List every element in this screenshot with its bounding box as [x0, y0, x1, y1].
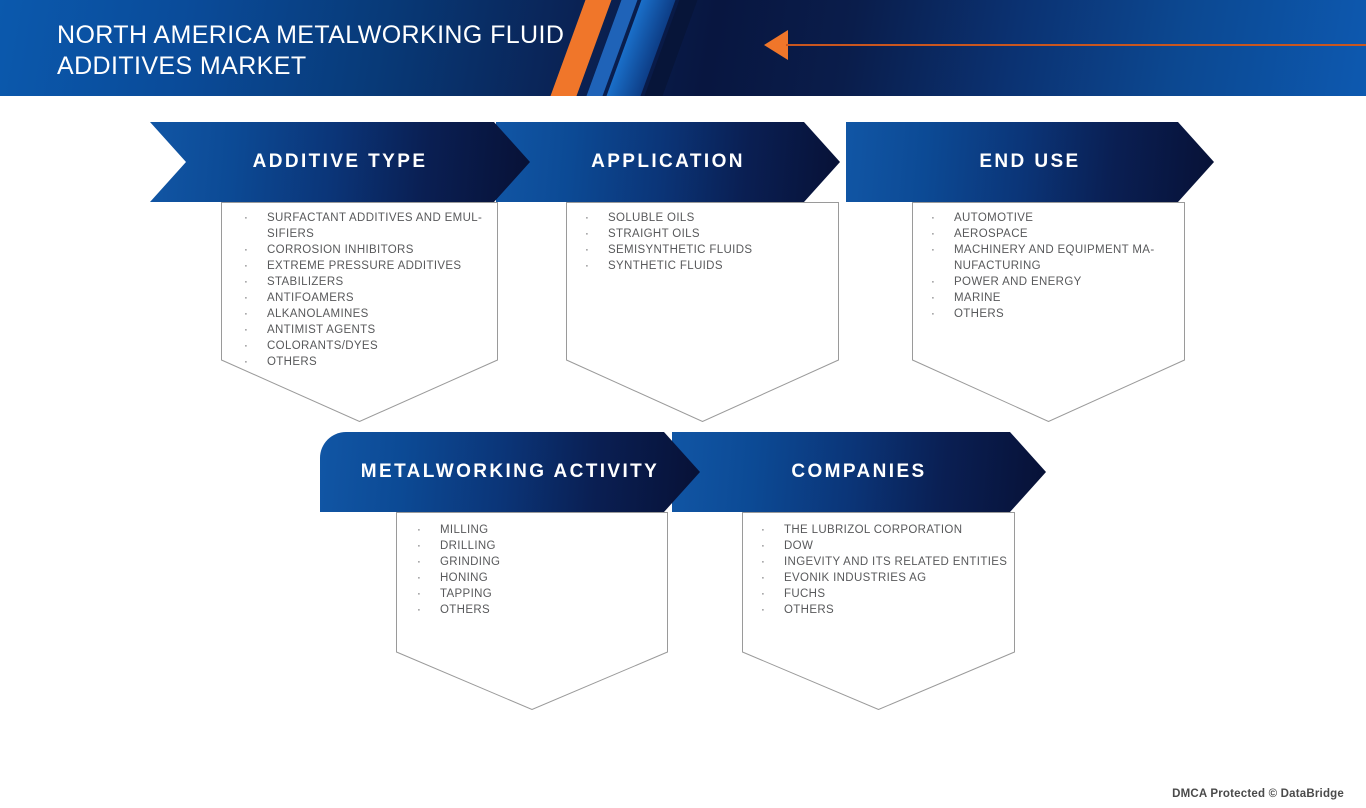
- list-item-label: ALKANOLAMINES: [267, 308, 369, 320]
- banner-end-use[interactable]: END USE: [846, 122, 1214, 202]
- banner-additive-type[interactable]: ADDITIVE TYPE: [150, 122, 530, 202]
- list-item: ·AEROSPACE: [924, 226, 1185, 242]
- list-item: ·ANTIMIST AGENTS: [237, 322, 498, 338]
- bullet-icon: ·: [244, 274, 248, 290]
- list-item: ·DOW: [754, 538, 1015, 554]
- list-item: ·MILLING: [410, 522, 668, 538]
- list-item: ·ALKANOLAMINES: [237, 306, 498, 322]
- list-item: ·MACHINERY AND EQUIPMENT MA- NUFACTURING: [924, 242, 1185, 274]
- list-item: ·GRINDING: [410, 554, 668, 570]
- list-item: ·SURFACTANT ADDITIVES AND EMUL- SIFIERS: [237, 210, 498, 242]
- bullet-icon: ·: [585, 242, 589, 258]
- bullet-icon: ·: [244, 322, 248, 338]
- bullet-icon: ·: [417, 538, 421, 554]
- list-item-label: SURFACTANT ADDITIVES AND EMUL- SIFIERS: [267, 212, 482, 240]
- list-item-label: AEROSPACE: [954, 228, 1028, 240]
- bullet-icon: ·: [931, 242, 935, 258]
- card-application: ·SOLUBLE OILS ·STRAIGHT OILS ·SEMISYNTHE…: [566, 202, 839, 422]
- list-additive-type: ·SURFACTANT ADDITIVES AND EMUL- SIFIERS …: [221, 202, 498, 370]
- list-item-label: EXTREME PRESSURE ADDITIVES: [267, 260, 461, 272]
- bullet-icon: ·: [761, 522, 765, 538]
- footer-credit: DMCA Protected © DataBridge: [1172, 788, 1344, 800]
- bullet-icon: ·: [244, 354, 248, 370]
- card-end-use: ·AUTOMOTIVE ·AEROSPACE ·MACHINERY AND EQ…: [912, 202, 1185, 422]
- bullet-icon: ·: [761, 586, 765, 602]
- bullet-icon: ·: [417, 586, 421, 602]
- list-item: ·AUTOMOTIVE: [924, 210, 1185, 226]
- list-item: ·OTHERS: [237, 354, 498, 370]
- list-item-label: SEMISYNTHETIC FLUIDS: [608, 244, 752, 256]
- banner-label-metalworking-activity: METALWORKING ACTIVITY: [361, 461, 659, 483]
- banner-application[interactable]: APPLICATION: [496, 122, 840, 202]
- list-item: ·MARINE: [924, 290, 1185, 306]
- list-item: ·DRILLING: [410, 538, 668, 554]
- list-item: ·COLORANTS/DYES: [237, 338, 498, 354]
- list-item: ·STABILIZERS: [237, 274, 498, 290]
- header-bar: NORTH AMERICA METALWORKING FLUID ADDITIV…: [0, 0, 1366, 96]
- list-item-label: POWER AND ENERGY: [954, 276, 1082, 288]
- bullet-icon: ·: [417, 602, 421, 618]
- list-application: ·SOLUBLE OILS ·STRAIGHT OILS ·SEMISYNTHE…: [566, 202, 839, 274]
- bullet-icon: ·: [585, 210, 589, 226]
- list-item-label: THE LUBRIZOL CORPORATION: [784, 524, 962, 536]
- banner-metalworking-activity[interactable]: METALWORKING ACTIVITY: [320, 432, 700, 512]
- page-title: NORTH AMERICA METALWORKING FLUID ADDITIV…: [57, 20, 697, 82]
- list-item: ·FUCHS: [754, 586, 1015, 602]
- list-item-label: SOLUBLE OILS: [608, 212, 695, 224]
- list-item: ·STRAIGHT OILS: [578, 226, 839, 242]
- list-item: ·OTHERS: [924, 306, 1185, 322]
- list-companies: ·THE LUBRIZOL CORPORATION ·DOW ·INGEVITY…: [742, 512, 1015, 618]
- banner-label-additive-type: ADDITIVE TYPE: [253, 151, 428, 173]
- bullet-icon: ·: [417, 570, 421, 586]
- list-item-label: OTHERS: [954, 308, 1004, 320]
- list-item: ·SYNTHETIC FLUIDS: [578, 258, 839, 274]
- list-item: ·HONING: [410, 570, 668, 586]
- card-metalworking-activity: ·MILLING ·DRILLING ·GRINDING ·HONING ·TA…: [396, 512, 668, 710]
- bullet-icon: ·: [931, 226, 935, 242]
- bullet-icon: ·: [244, 258, 248, 274]
- banner-companies[interactable]: COMPANIES: [672, 432, 1046, 512]
- list-item: ·EXTREME PRESSURE ADDITIVES: [237, 258, 498, 274]
- list-metalworking-activity: ·MILLING ·DRILLING ·GRINDING ·HONING ·TA…: [396, 512, 668, 618]
- list-item-label: TAPPING: [440, 588, 492, 600]
- list-item: ·ANTIFOAMERS: [237, 290, 498, 306]
- list-item: ·EVONIK INDUSTRIES AG: [754, 570, 1015, 586]
- bullet-icon: ·: [585, 226, 589, 242]
- list-item: ·TAPPING: [410, 586, 668, 602]
- bullet-icon: ·: [931, 290, 935, 306]
- list-item: ·INGEVITY AND ITS RELATED ENTITIES: [754, 554, 1015, 570]
- list-item-label: SYNTHETIC FLUIDS: [608, 260, 723, 272]
- card-additive-type: ·SURFACTANT ADDITIVES AND EMUL- SIFIERS …: [221, 202, 498, 422]
- list-item-label: OTHERS: [440, 604, 490, 616]
- bullet-icon: ·: [244, 242, 248, 258]
- bullet-icon: ·: [244, 210, 248, 226]
- banner-label-application: APPLICATION: [591, 151, 745, 173]
- bullet-icon: ·: [761, 554, 765, 570]
- list-item-label: ANTIFOAMERS: [267, 292, 354, 304]
- list-item-label: GRINDING: [440, 556, 500, 568]
- card-companies: ·THE LUBRIZOL CORPORATION ·DOW ·INGEVITY…: [742, 512, 1015, 710]
- bullet-icon: ·: [761, 602, 765, 618]
- banner-label-companies: COMPANIES: [791, 461, 926, 483]
- list-item-label: AUTOMOTIVE: [954, 212, 1033, 224]
- list-item: ·OTHERS: [410, 602, 668, 618]
- left-arrow-icon: [764, 30, 788, 60]
- list-item-label: OTHERS: [784, 604, 834, 616]
- list-item: ·SOLUBLE OILS: [578, 210, 839, 226]
- list-item-label: OTHERS: [267, 356, 317, 368]
- list-item: ·SEMISYNTHETIC FLUIDS: [578, 242, 839, 258]
- bullet-icon: ·: [585, 258, 589, 274]
- list-item-label: MILLING: [440, 524, 488, 536]
- bullet-icon: ·: [761, 570, 765, 586]
- list-end-use: ·AUTOMOTIVE ·AEROSPACE ·MACHINERY AND EQ…: [912, 202, 1185, 322]
- bullet-icon: ·: [761, 538, 765, 554]
- list-item-label: EVONIK INDUSTRIES AG: [784, 572, 926, 584]
- list-item: ·THE LUBRIZOL CORPORATION: [754, 522, 1015, 538]
- list-item-label: FUCHS: [784, 588, 825, 600]
- banner-label-end-use: END USE: [979, 151, 1080, 173]
- list-item-label: CORROSION INHIBITORS: [267, 244, 414, 256]
- bullet-icon: ·: [244, 338, 248, 354]
- bullet-icon: ·: [931, 306, 935, 322]
- header-rule: [786, 44, 1366, 46]
- list-item-label: ANTIMIST AGENTS: [267, 324, 376, 336]
- bullet-icon: ·: [931, 210, 935, 226]
- bullet-icon: ·: [931, 274, 935, 290]
- list-item-label: STRAIGHT OILS: [608, 228, 700, 240]
- list-item-label: COLORANTS/DYES: [267, 340, 378, 352]
- list-item-label: INGEVITY AND ITS RELATED ENTITIES: [784, 556, 1007, 568]
- list-item-label: STABILIZERS: [267, 276, 344, 288]
- bullet-icon: ·: [417, 554, 421, 570]
- list-item-label: DRILLING: [440, 540, 496, 552]
- list-item: ·POWER AND ENERGY: [924, 274, 1185, 290]
- list-item-label: HONING: [440, 572, 488, 584]
- list-item-label: DOW: [784, 540, 813, 552]
- list-item: ·CORROSION INHIBITORS: [237, 242, 498, 258]
- list-item-label: MARINE: [954, 292, 1001, 304]
- bullet-icon: ·: [417, 522, 421, 538]
- list-item: ·OTHERS: [754, 602, 1015, 618]
- list-item-label: MACHINERY AND EQUIPMENT MA- NUFACTURING: [954, 244, 1155, 272]
- bullet-icon: ·: [244, 290, 248, 306]
- bullet-icon: ·: [244, 306, 248, 322]
